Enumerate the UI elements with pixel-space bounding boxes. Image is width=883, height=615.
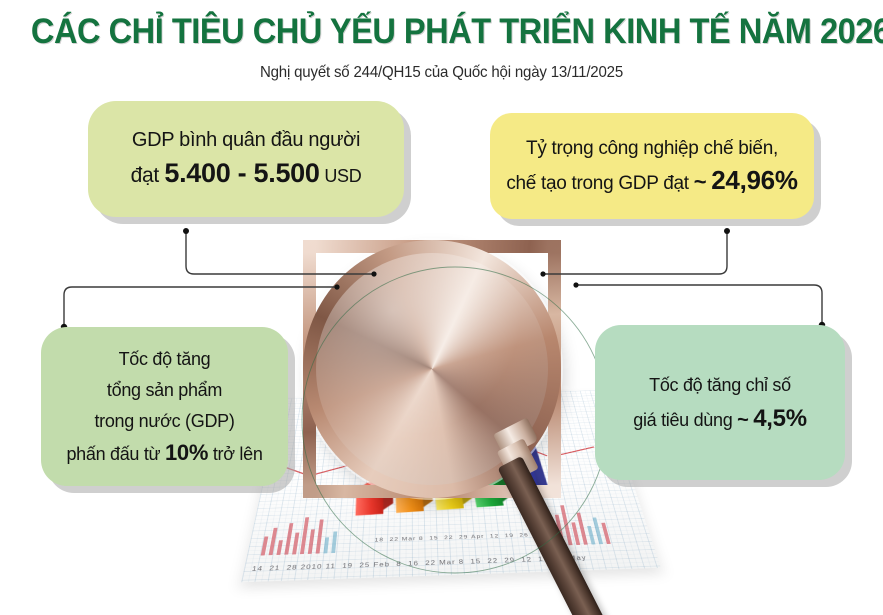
callout-gdp-growth-line1: Tốc độ tăng <box>119 344 211 375</box>
callout-gdp-growth-line4: phấn đấu từ 10% trở lên <box>66 437 262 470</box>
callout-gdp-growth[interactable]: Tốc độ tăng tổng sản phẩm trong nước (GD… <box>41 327 288 486</box>
callout-gdp-per-capita-line1: GDP bình quân đầu người <box>132 125 360 155</box>
page-title: CÁC CHỈ TIÊU CHỦ YẾU PHÁT TRIỂN KINH TẾ … <box>31 10 852 54</box>
callout-gdp-per-capita-unit: USD <box>320 166 362 186</box>
callout-manufacturing-share-line2: chế tạo trong GDP đạt ~ 24,96% <box>506 164 797 200</box>
callout-gdp-per-capita-prefix: đạt <box>131 164 165 187</box>
callout-manufacturing-share-prefix: chế tạo trong GDP đạt <box>506 173 693 194</box>
bar-1 <box>356 486 384 515</box>
illustration-description: Kính lúp phóng to biểu đồ cột 3D trên gi… <box>243 240 244 241</box>
approximately-icon: ~ <box>694 169 707 194</box>
callout-gdp-per-capita-value: 5.400 - 5.500 <box>164 158 319 188</box>
callout-cpi-line2: giá tiêu dùng ~ 4,5% <box>633 402 807 437</box>
callout-gdp-growth-value: 10% <box>165 440 208 465</box>
callout-gdp-per-capita-line2: đạt 5.400 - 5.500 USD <box>131 155 362 194</box>
callout-gdp-growth-line2: tổng sản phẩm <box>107 375 222 406</box>
callout-manufacturing-share-line1: Tỷ trọng công nghiệp chế biến, <box>526 133 778 164</box>
callout-gdp-growth-line3: trong nước (GDP) <box>94 406 234 437</box>
approximately-icon: ~ <box>737 409 748 431</box>
connector-dot-top-right <box>724 228 730 234</box>
page-subtitle: Nghị quyết số 244/QH15 của Quốc hội ngày… <box>26 62 856 84</box>
callout-gdp-growth-prefix: phấn đấu từ <box>66 444 165 464</box>
callout-cpi-prefix: giá tiêu dùng <box>633 410 737 430</box>
callout-cpi-line1: Tốc độ tăng chỉ số <box>649 369 791 402</box>
callout-manufacturing-share-value: 24,96% <box>711 165 797 195</box>
callout-manufacturing-share[interactable]: Tỷ trọng công nghiệp chế biến, chế tạo t… <box>490 113 814 219</box>
callout-cpi[interactable]: Tốc độ tăng chỉ số giá tiêu dùng ~ 4,5% <box>595 325 845 480</box>
callout-gdp-per-capita[interactable]: GDP bình quân đầu người đạt 5.400 - 5.50… <box>88 101 404 217</box>
callout-gdp-growth-suffix: trở lên <box>208 444 262 464</box>
infographic-canvas: CÁC CHỈ TIÊU CHỦ YẾU PHÁT TRIỂN KINH TẾ … <box>0 0 883 615</box>
connector-dot-top-left <box>183 228 189 234</box>
callout-cpi-value: 4,5% <box>753 405 807 432</box>
